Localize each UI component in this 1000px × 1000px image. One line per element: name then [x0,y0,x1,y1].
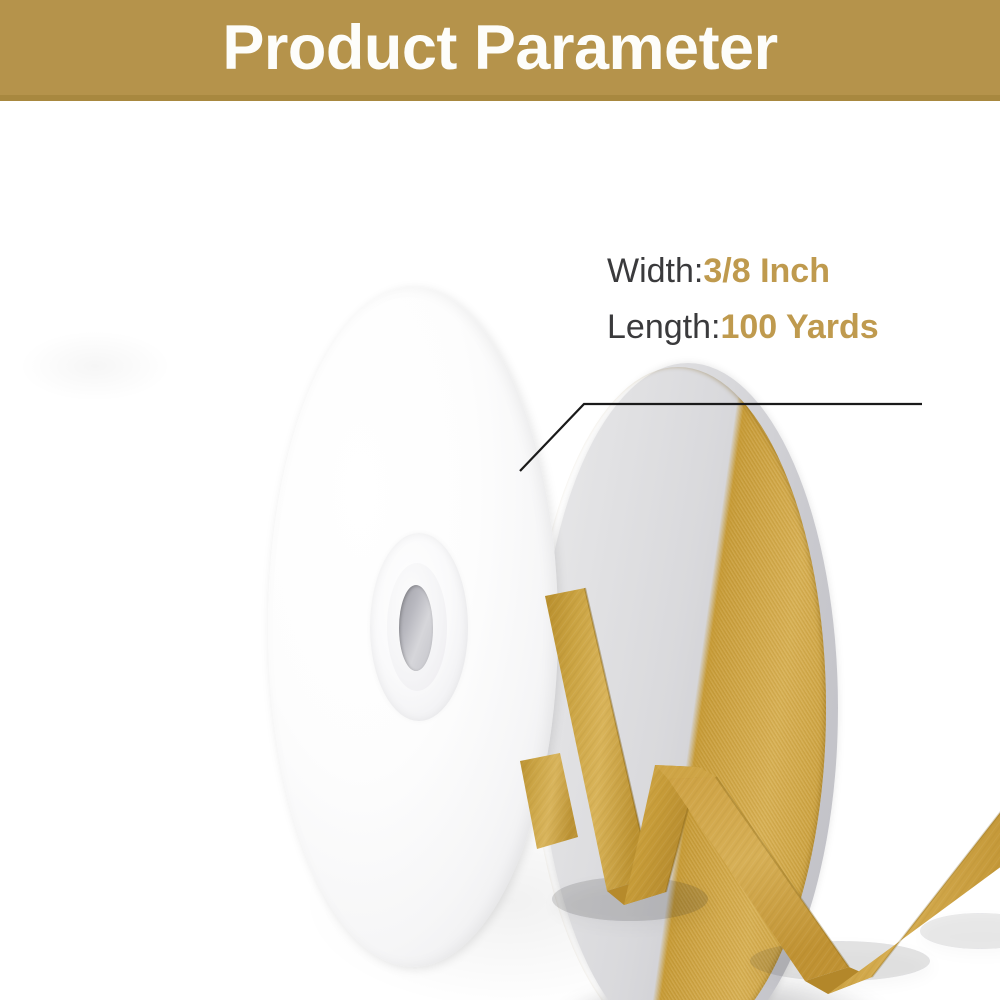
page-title: Product Parameter [0,6,1000,90]
header-banner: Product Parameter [0,0,1000,101]
background-highlight-left [20,331,170,401]
spec-width-row: Width:3/8 Inch [607,251,830,291]
spec-length-row: Length:100 Yards [607,307,879,347]
ribbon-segment-4 [828,805,1000,994]
product-photo: Width:3/8 Inch Length:100 Yards [0,101,1000,1000]
spec-length-label: Length: [607,308,720,346]
product-parameter-image: Product Parameter [0,0,1000,1000]
spool-center-hole [399,585,433,671]
spec-length-value: 100 Yards [720,308,878,346]
ribbon-spool [250,181,630,971]
spec-width-value: 3/8 Inch [703,252,830,290]
spec-width-label: Width: [607,252,703,290]
